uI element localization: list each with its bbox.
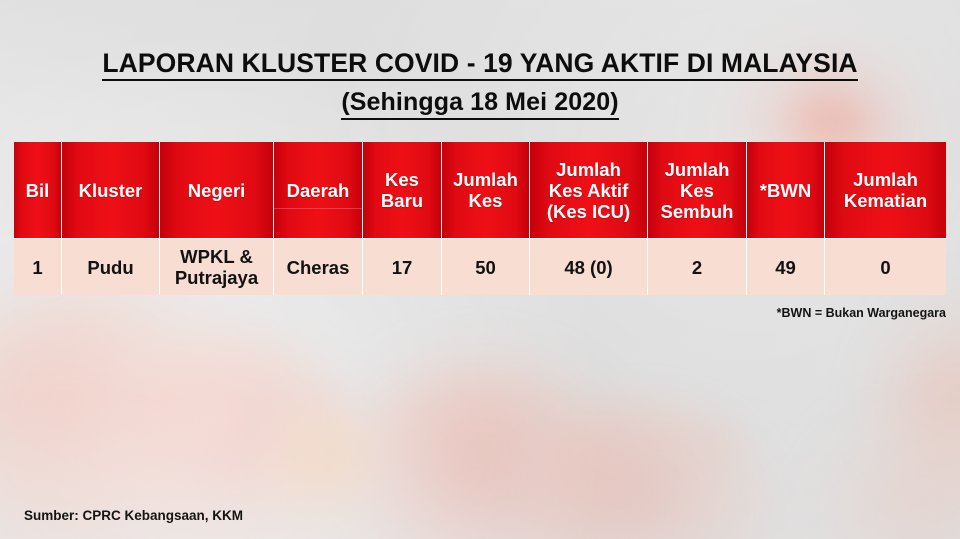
cell-jumlah-kes-sembuh: 2 — [648, 238, 747, 295]
column-header-jumlah-kes-line1: Jumlah — [453, 169, 518, 190]
cell-daerah: Cheras — [274, 238, 363, 295]
column-header-jumlah-kes-line2: Kes — [469, 190, 503, 211]
cell-negeri: WPKL & Putrajaya — [160, 238, 274, 295]
column-header-kluster: Kluster — [62, 142, 160, 238]
source-label: Sumber: CPRC Kebangsaan, KKM — [24, 508, 243, 523]
column-header-jumlah-kes-sembuh: Jumlah Kes Sembuh — [648, 142, 747, 238]
cell-kluster: Pudu — [62, 238, 160, 295]
title-line-1: LAPORAN KLUSTER COVID - 19 YANG AKTIF DI… — [102, 48, 857, 81]
column-header-bil: Bil — [14, 142, 62, 238]
column-header-daerah: Daerah — [274, 142, 363, 238]
column-header-bwn: *BWN — [747, 142, 825, 238]
column-header-jumlah-kes-aktif-line2: Kes Aktif — [549, 180, 629, 201]
title-line-2: (Sehingga 18 Mei 2020) — [341, 87, 618, 120]
cluster-table-wrapper: Bil Kluster Negeri Daerah Kes Baru Jumla… — [14, 142, 946, 295]
column-header-kes-baru: Kes Baru — [363, 142, 442, 238]
page-title: LAPORAN KLUSTER COVID - 19 YANG AKTIF DI… — [0, 48, 960, 120]
table-row: 1 Pudu WPKL & Putrajaya Cheras 17 50 48 … — [14, 238, 946, 295]
slide-canvas: LAPORAN KLUSTER COVID - 19 YANG AKTIF DI… — [0, 0, 960, 539]
column-header-jumlah-kematian: Jumlah Kematian — [825, 142, 946, 238]
column-header-kes-baru-line1: Kes — [385, 169, 419, 190]
cell-bil: 1 — [14, 238, 62, 295]
cell-negeri-line2: Putrajaya — [175, 267, 258, 288]
table-header-row: Bil Kluster Negeri Daerah Kes Baru Jumla… — [14, 142, 946, 238]
cell-kes-baru: 17 — [363, 238, 442, 295]
cell-bwn: 49 — [747, 238, 825, 295]
column-header-jumlah-kes-aktif-line1: Jumlah — [556, 159, 621, 180]
column-header-kes-baru-line2: Baru — [381, 190, 423, 211]
cell-jumlah-kes-aktif: 48 (0) — [530, 238, 648, 295]
column-header-jumlah-kes-sembuh-line3: Sembuh — [661, 201, 734, 222]
cell-jumlah-kematian: 0 — [825, 238, 946, 295]
cell-jumlah-kes: 50 — [442, 238, 530, 295]
cell-negeri-line1: WPKL & — [180, 246, 253, 267]
column-header-jumlah-kematian-line2: Kematian — [844, 190, 927, 211]
column-header-jumlah-kematian-line1: Jumlah — [853, 169, 918, 190]
footnote-bwn: *BWN = Bukan Warganegara — [777, 306, 946, 320]
column-header-jumlah-kes: Jumlah Kes — [442, 142, 530, 238]
column-header-negeri: Negeri — [160, 142, 274, 238]
column-header-jumlah-kes-aktif: Jumlah Kes Aktif (Kes ICU) — [530, 142, 648, 238]
column-header-jumlah-kes-sembuh-line2: Kes — [680, 180, 714, 201]
cluster-table: Bil Kluster Negeri Daerah Kes Baru Jumla… — [14, 142, 946, 295]
column-header-jumlah-kes-aktif-line3: (Kes ICU) — [547, 201, 630, 222]
column-header-jumlah-kes-sembuh-line1: Jumlah — [665, 159, 730, 180]
